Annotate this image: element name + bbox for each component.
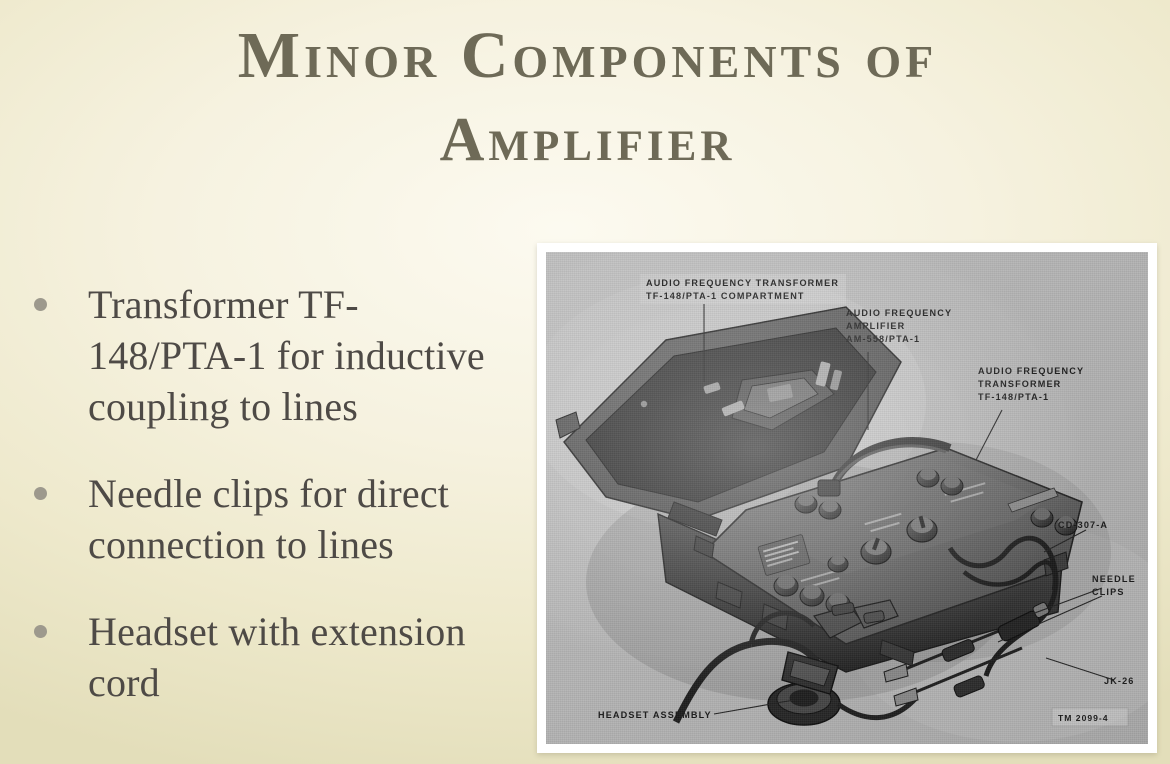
- slide-canvas: Minor Components of Amplifier Transforme…: [0, 0, 1170, 764]
- label-line: AMPLIFIER: [846, 321, 905, 331]
- bullet-dot-icon: [34, 298, 47, 311]
- label-line: AUDIO FREQUENCY TRANSFORMER: [646, 278, 839, 288]
- bullet-dot-icon: [34, 487, 47, 500]
- label-line: TRANSFORMER: [978, 379, 1061, 389]
- title-line-1: Minor Components of: [60, 14, 1115, 98]
- list-item: Needle clips for direct connection to li…: [34, 468, 504, 570]
- label-line: AUDIO FREQUENCY: [978, 366, 1084, 376]
- label-line: TF-148/PTA-1 COMPARTMENT: [646, 291, 805, 301]
- bullet-dot-icon: [34, 625, 47, 638]
- label-line: CLIPS: [1092, 587, 1125, 597]
- title-line-2: Amplifier: [60, 98, 1115, 182]
- label-line: AUDIO FREQUENCY: [846, 308, 952, 318]
- label-headset: HEADSET ASSEMBLY: [598, 710, 712, 720]
- page-title: Minor Components of Amplifier: [60, 14, 1115, 182]
- figure-ref-text: TM 2099-4: [1058, 713, 1109, 723]
- list-item: Transformer TF-148/PTA-1 for inductive c…: [34, 279, 504, 432]
- photo-frame: AUDIO FREQUENCY TRANSFORMER TF-148/PTA-1…: [537, 243, 1157, 753]
- bullet-text: Needle clips for direct connection to li…: [88, 468, 504, 570]
- photo-image: AUDIO FREQUENCY TRANSFORMER TF-148/PTA-1…: [546, 252, 1148, 744]
- list-item: Headset with extension cord: [34, 606, 504, 708]
- label-cord: CD-307-A: [1058, 520, 1108, 530]
- bullet-list: Transformer TF-148/PTA-1 for inductive c…: [34, 279, 504, 744]
- figure-reference: TM 2099-4: [1052, 708, 1128, 726]
- bullet-text: Transformer TF-148/PTA-1 for inductive c…: [88, 279, 504, 432]
- label-jack: JK-26: [1104, 676, 1135, 686]
- amplifier-illustration: AUDIO FREQUENCY TRANSFORMER TF-148/PTA-1…: [546, 252, 1148, 744]
- label-line: AM-558/PTA-1: [846, 334, 920, 344]
- bullet-text: Headset with extension cord: [88, 606, 504, 708]
- label-line: NEEDLE: [1092, 574, 1136, 584]
- label-line: TF-148/PTA-1: [978, 392, 1049, 402]
- label-transformer-compartment: AUDIO FREQUENCY TRANSFORMER TF-148/PTA-1…: [640, 274, 846, 304]
